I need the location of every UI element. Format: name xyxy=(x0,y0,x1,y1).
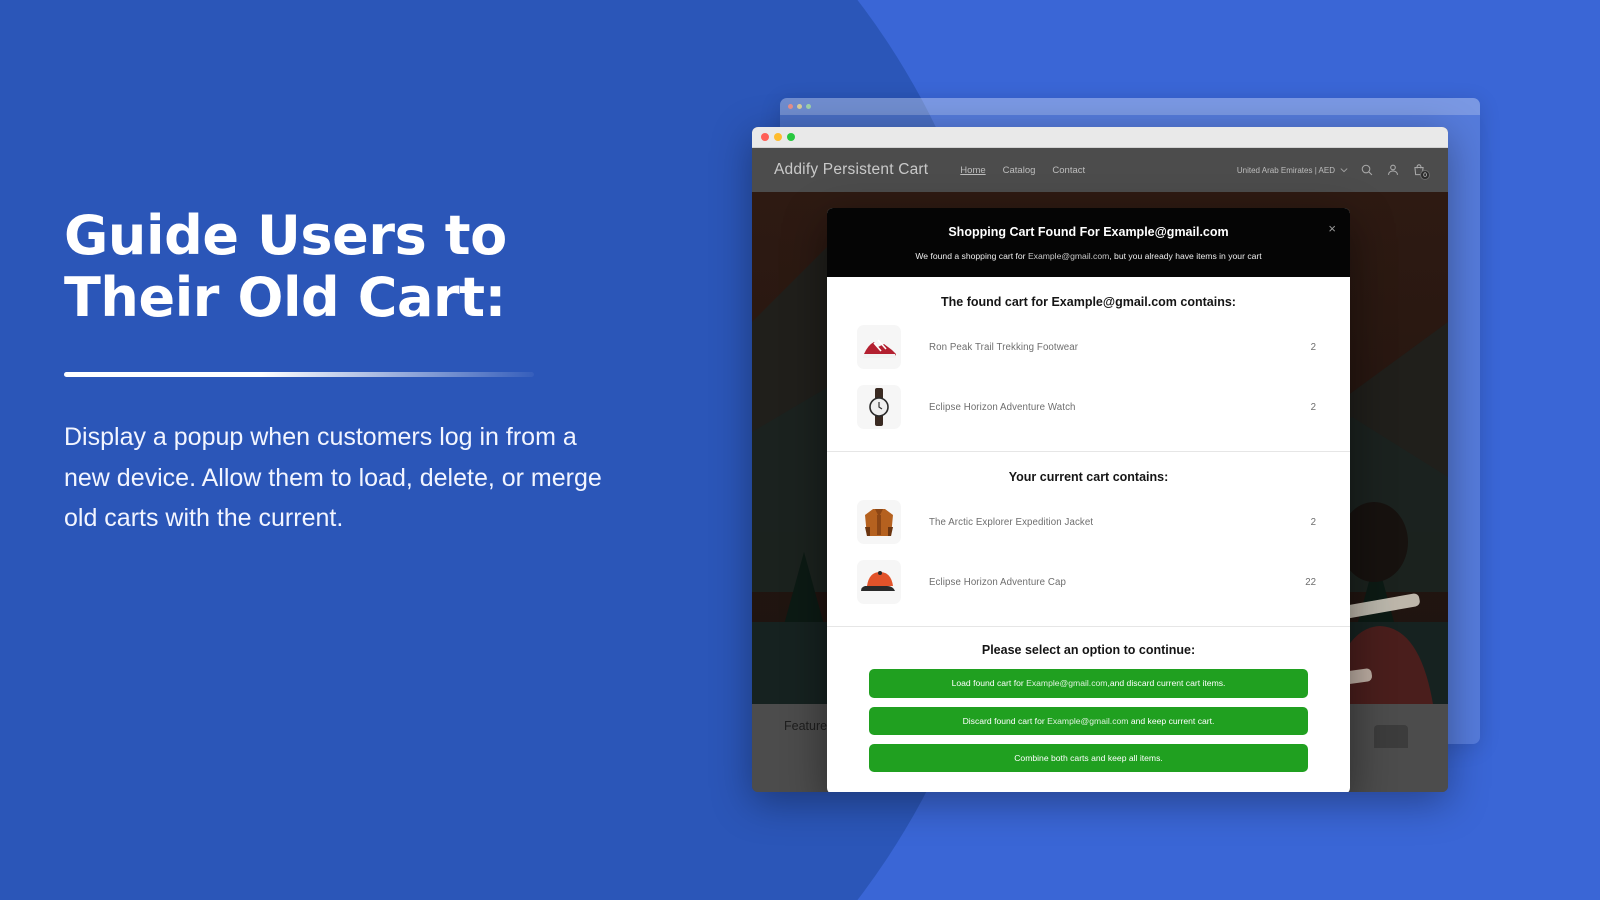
modal-title-prefix: Shopping Cart Found For xyxy=(948,225,1099,239)
browser-titlebar xyxy=(752,127,1448,148)
modal-subtitle-after: , but you already have items in your car… xyxy=(1109,251,1261,261)
combine-btn-label: Combine both carts and keep all items. xyxy=(1014,753,1163,763)
store-header-actions: United Arab Emirates | AED xyxy=(1237,163,1426,177)
load-btn-after: ,and discard current cart items. xyxy=(1107,678,1225,688)
discard-btn-after: and keep current cart. xyxy=(1128,716,1214,726)
cap-thumb-icon xyxy=(857,560,901,604)
page-title: Guide Users to Their Old Cart: xyxy=(64,205,704,328)
item-quantity: 2 xyxy=(1286,342,1320,353)
divider xyxy=(64,372,534,377)
load-btn-email: Example@gmail.com xyxy=(1026,678,1107,688)
found-cart-title: The found cart for Example@gmail.com con… xyxy=(857,295,1320,309)
list-item: The Arctic Explorer Expedition Jacket 2 xyxy=(857,492,1320,552)
watch-thumb-icon xyxy=(857,385,901,429)
jacket-thumb-icon xyxy=(857,500,901,544)
modal-subtitle-before: We found a shopping cart for xyxy=(915,251,1025,261)
account-icon[interactable] xyxy=(1386,163,1400,177)
maximize-window-button[interactable] xyxy=(787,133,795,141)
search-icon[interactable] xyxy=(1360,163,1374,177)
found-cart-title-email: Example@gmail.com xyxy=(1051,295,1176,309)
headline-line-1: Guide Users to xyxy=(64,205,704,267)
discard-btn-before: Discard found cart for xyxy=(963,716,1045,726)
minimize-window-button[interactable] xyxy=(774,133,782,141)
store-header: Addify Persistent Cart Home Catalog Cont… xyxy=(752,148,1448,192)
product-thumb[interactable] xyxy=(1374,725,1408,748)
close-icon[interactable]: × xyxy=(1328,222,1336,235)
storefront: Addify Persistent Cart Home Catalog Cont… xyxy=(752,148,1448,792)
bg-maximize-dot xyxy=(806,104,811,109)
marketing-copy: Guide Users to Their Old Cart: Display a… xyxy=(64,205,704,539)
modal-title: Shopping Cart Found For Example@gmail.co… xyxy=(845,224,1332,240)
headline-line-2: Their Old Cart: xyxy=(64,267,704,329)
modal-subtitle: We found a shopping cart for Example@gma… xyxy=(845,250,1332,262)
store-nav-links: Home Catalog Contact xyxy=(960,165,1085,176)
found-cart-section: The found cart for Example@gmail.com con… xyxy=(827,277,1350,451)
cart-count-badge: 0 xyxy=(1420,170,1430,180)
load-found-cart-button[interactable]: Load found cart for Example@gmail.com,an… xyxy=(869,669,1308,697)
currency-selector[interactable]: United Arab Emirates | AED xyxy=(1237,166,1348,175)
promo-banner: Guide Users to Their Old Cart: Display a… xyxy=(0,0,1600,900)
options-section: Please select an option to continue: Loa… xyxy=(827,626,1350,792)
options-title: Please select an option to continue: xyxy=(869,643,1308,657)
nav-link-home[interactable]: Home xyxy=(960,165,985,176)
browser-window: Addify Persistent Cart Home Catalog Cont… xyxy=(752,127,1448,792)
nav-link-contact[interactable]: Contact xyxy=(1052,165,1085,176)
item-quantity: 22 xyxy=(1286,577,1320,588)
combine-carts-button[interactable]: Combine both carts and keep all items. xyxy=(869,744,1308,772)
current-cart-title: Your current cart contains: xyxy=(857,470,1320,484)
store-logo[interactable]: Addify Persistent Cart xyxy=(774,161,928,179)
list-item: Eclipse Horizon Adventure Cap 22 xyxy=(857,552,1320,612)
bg-minimize-dot xyxy=(797,104,802,109)
load-btn-before: Load found cart for xyxy=(952,678,1024,688)
item-name: The Arctic Explorer Expedition Jacket xyxy=(901,517,1286,528)
item-quantity: 2 xyxy=(1286,402,1320,413)
item-name: Eclipse Horizon Adventure Watch xyxy=(901,402,1286,413)
discard-found-cart-button[interactable]: Discard found cart for Example@gmail.com… xyxy=(869,707,1308,735)
currency-label: United Arab Emirates | AED xyxy=(1237,166,1335,175)
list-item: Ron Peak Trail Trekking Footwear 2 xyxy=(857,317,1320,377)
cart-button[interactable]: 0 xyxy=(1412,163,1426,177)
list-item: Eclipse Horizon Adventure Watch 2 xyxy=(857,377,1320,437)
persistent-cart-modal: Shopping Cart Found For Example@gmail.co… xyxy=(827,208,1350,792)
item-name: Ron Peak Trail Trekking Footwear xyxy=(901,342,1286,353)
chevron-down-icon xyxy=(1340,166,1348,174)
item-name: Eclipse Horizon Adventure Cap xyxy=(901,577,1286,588)
bg-close-dot xyxy=(788,104,793,109)
discard-btn-email: Example@gmail.com xyxy=(1047,716,1128,726)
found-cart-title-before: The found cart for xyxy=(941,295,1048,309)
nav-link-catalog[interactable]: Catalog xyxy=(1003,165,1036,176)
marketing-body: Display a popup when customers log in fr… xyxy=(64,417,624,539)
sneaker-thumb-icon xyxy=(857,325,901,369)
item-quantity: 2 xyxy=(1286,517,1320,528)
close-window-button[interactable] xyxy=(761,133,769,141)
modal-title-email: Example@gmail.com xyxy=(1103,225,1228,239)
modal-header: Shopping Cart Found For Example@gmail.co… xyxy=(827,208,1350,277)
found-cart-title-after: contains: xyxy=(1180,295,1236,309)
current-cart-section: Your current cart contains: The Arc xyxy=(827,451,1350,626)
background-window-titlebar xyxy=(780,98,1480,115)
modal-subtitle-email: Example@gmail.com xyxy=(1028,251,1109,261)
